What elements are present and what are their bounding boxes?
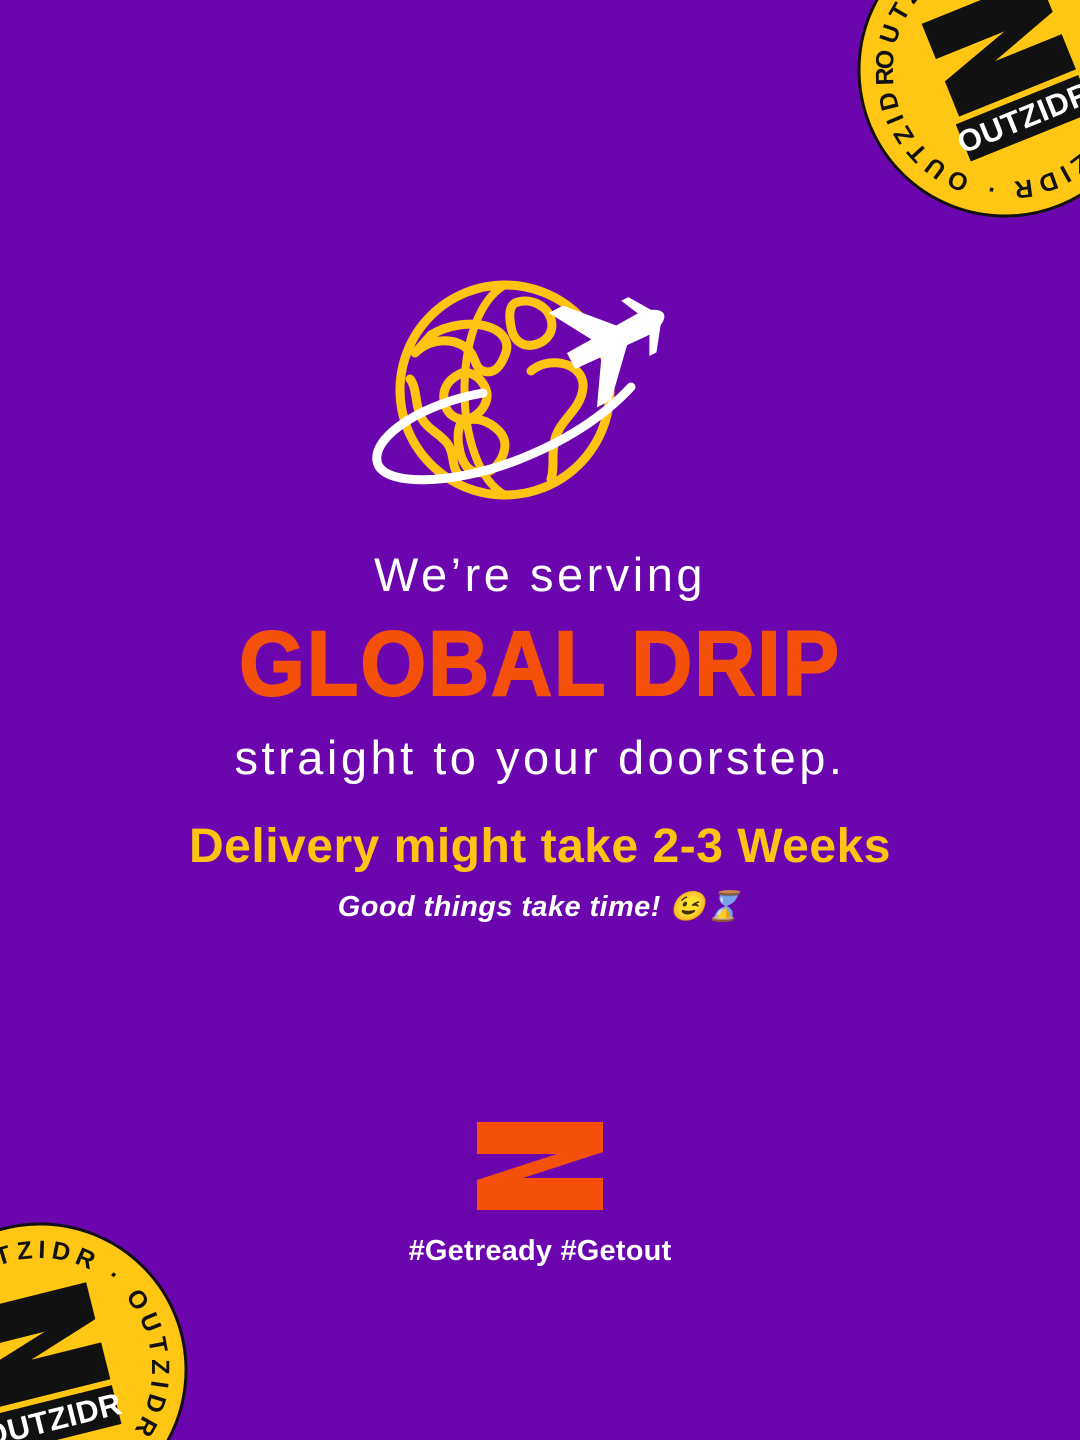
globe-landmass-west (410, 379, 459, 475)
globe-airplane-graphic (355, 275, 705, 505)
brand-badge-bottom-left: OUTZIDR · OUTZIDR · OUTZIDR · OUTZIDR · … (0, 1220, 190, 1440)
headline-tagline: straight to your doorstep. (0, 731, 1080, 785)
z-logo-shape (477, 1122, 603, 1210)
delivery-notice: Delivery might take 2-3 Weeks (0, 818, 1080, 876)
headline-block: We’re serving GLOBAL DRIP straight to yo… (0, 548, 1080, 785)
headline-main: GLOBAL DRIP (43, 616, 1037, 713)
badge-top-right-graphic: OUTZIDR · OUTZIDR · OUTZIDR · OUTZIDR · … (855, 0, 1080, 220)
delivery-notice-block: Delivery might take 2-3 Weeks Good thing… (0, 818, 1080, 924)
badge-bottom-left-graphic: OUTZIDR · OUTZIDR · OUTZIDR · OUTZIDR · … (0, 1220, 190, 1440)
globe-with-airplane-illustration (355, 275, 705, 505)
globe-landmass-east (531, 363, 583, 479)
delivery-subnote: Good things take time! 😉⌛ (0, 890, 1080, 924)
headline-eyebrow: We’re serving (0, 548, 1080, 602)
brand-badge-top-right: OUTZIDR · OUTZIDR · OUTZIDR · OUTZIDR · … (855, 0, 1080, 220)
z-logo-icon (475, 1120, 605, 1212)
airplane-icon (547, 275, 688, 408)
promo-poster: OUTZIDR · OUTZIDR · OUTZIDR · OUTZIDR · … (0, 0, 1080, 1440)
